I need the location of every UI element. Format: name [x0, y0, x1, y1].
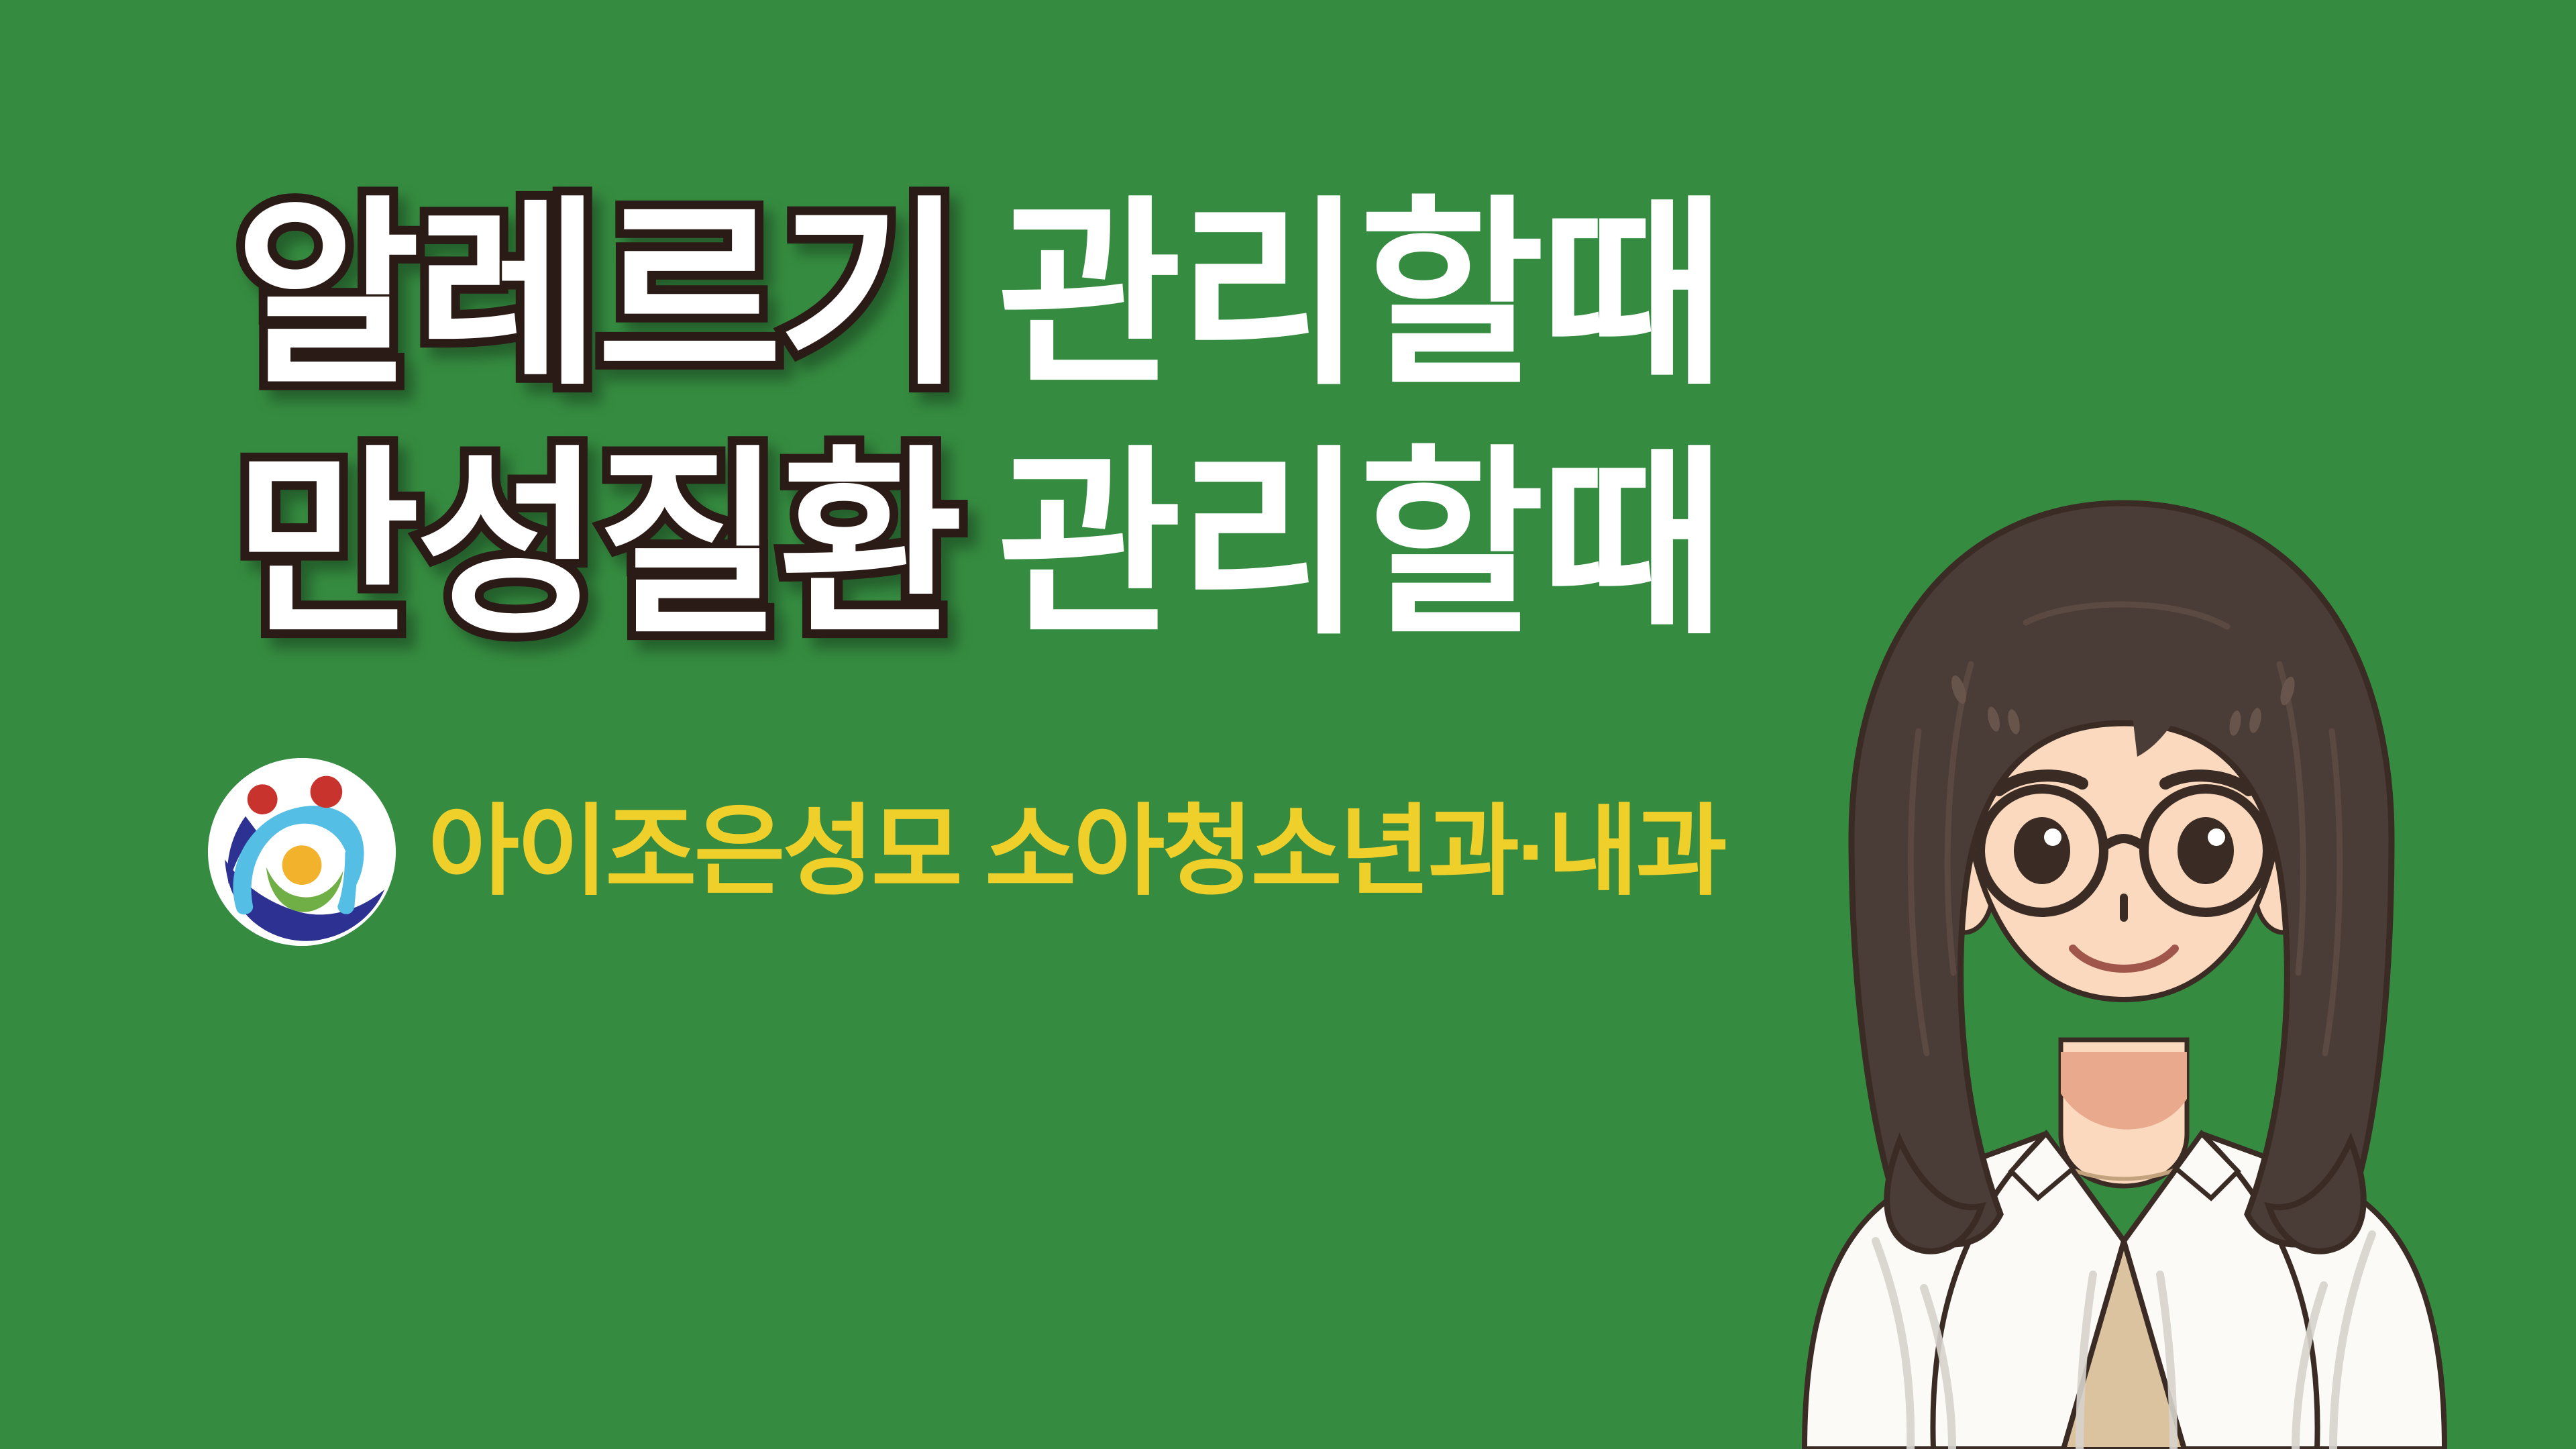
- clinic-logo-icon: [208, 758, 396, 946]
- doctor-illustration: [1758, 463, 2495, 1449]
- headline-suffix-line-2: 관리할때: [997, 444, 1721, 645]
- headline-line-2: 만성질환 관리할때: [235, 444, 1845, 672]
- headline-block: 알레르기 관리할때 만성질환 관리할때: [235, 195, 1845, 672]
- headline-keyword-allergy: 알레르기: [235, 195, 959, 396]
- banner-canvas: 알레르기 관리할때 만성질환 관리할때: [0, 0, 2576, 1449]
- brand-row: 아이조은성모 소아청소년과·내과: [208, 758, 1725, 946]
- headline-keyword-chronic-disease: 만성질환: [235, 444, 959, 645]
- headline-suffix-line-1: 관리할때: [997, 195, 1721, 396]
- headline-line-1: 알레르기 관리할때: [235, 195, 1845, 423]
- clinic-name-label: 아이조은성모 소아청소년과·내과: [428, 802, 1725, 902]
